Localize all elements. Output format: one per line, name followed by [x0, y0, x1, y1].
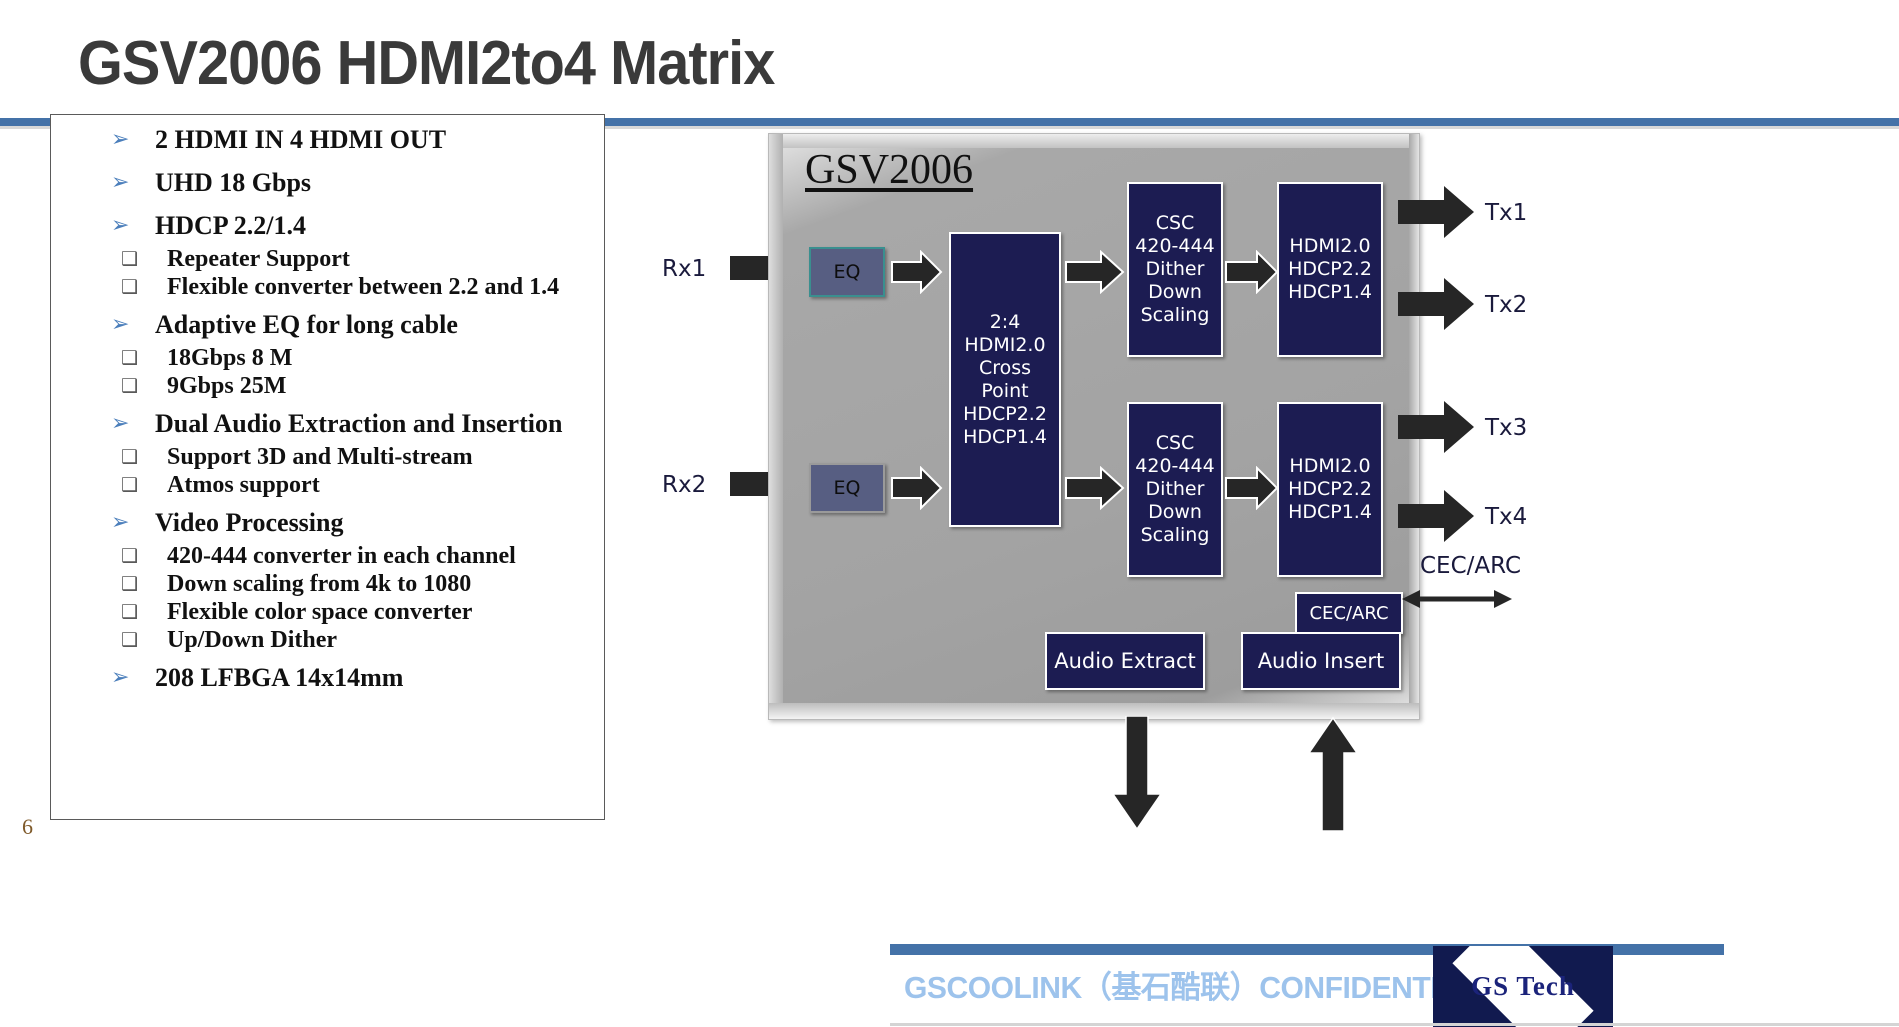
arrow-bullet-icon: ➢	[109, 407, 155, 441]
feature-label: HDCP 2.2/1.4	[155, 209, 306, 243]
csc-bottom-label: CSC 420-444 Dither Down Scaling	[1135, 432, 1214, 547]
cec-arc-block: CEC/ARC	[1295, 592, 1403, 634]
arrow-bullet-icon: ➢	[109, 166, 155, 200]
hdmi-top-label: HDMI2.0 HDCP2.2 HDCP1.4	[1288, 235, 1372, 304]
chip-label: GSV2006	[805, 146, 973, 194]
crosspoint-label: 2:4 HDMI2.0 Cross Point HDCP2.2 HDCP1.4	[963, 311, 1047, 449]
square-bullet-icon: ❑	[109, 273, 167, 301]
label-cec-arc-external: CEC/ARC	[1420, 553, 1521, 579]
eq-top-block: EQ	[809, 247, 885, 297]
arrow-bullet-icon: ➢	[109, 661, 155, 695]
arrow-audio-extract-out	[1112, 716, 1162, 831]
logo-text: GS Tech	[1433, 946, 1613, 1027]
hdmi-bottom-label: HDMI2.0 HDCP2.2 HDCP1.4	[1288, 455, 1372, 524]
feature-label: Up/Down Dither	[167, 626, 337, 654]
chip-package: GSV2006 EQ EQ 2:4 HDMI2.0 Cross Point HD…	[768, 133, 1420, 720]
csc-top-block: CSC 420-444 Dither Down Scaling	[1127, 182, 1223, 357]
feature-label: Adaptive EQ for long cable	[155, 308, 458, 342]
arrow-eq-top-to-crosspoint	[891, 250, 943, 294]
arrow-tx1-out	[1398, 186, 1474, 238]
feature-label: 9Gbps 25M	[167, 372, 286, 400]
audio-insert-block: Audio Insert	[1241, 632, 1401, 690]
square-bullet-icon: ❑	[109, 372, 167, 400]
label-tx4: Tx4	[1485, 504, 1527, 530]
audio-extract-block: Audio Extract	[1045, 632, 1205, 690]
feature-label: 18Gbps 8 M	[167, 344, 292, 372]
feature-label: Flexible converter between 2.2 and 1.4	[167, 273, 559, 301]
csc-bottom-block: CSC 420-444 Dither Down Scaling	[1127, 402, 1223, 577]
page-title: GSV2006 HDMI2to4 Matrix	[78, 28, 774, 99]
feature-label: Dual Audio Extraction and Insertion	[155, 407, 562, 441]
label-tx2: Tx2	[1485, 292, 1527, 318]
feature-list-panel: ➢2 HDMI IN 4 HDMI OUT➢UHD 18 Gbps➢HDCP 2…	[50, 114, 605, 820]
footer: GSCOOLINK（基石酷联）CONFIDENTIAL GS Tech	[890, 944, 1899, 1027]
block-diagram: Rx1 Rx2 GSV2006 EQ EQ	[640, 128, 1899, 918]
label-tx3: Tx3	[1485, 415, 1527, 441]
arrow-bullet-icon: ➢	[109, 506, 155, 540]
csc-top-label: CSC 420-444 Dither Down Scaling	[1135, 212, 1214, 327]
chip-bevel-left	[769, 134, 783, 719]
square-bullet-icon: ❑	[109, 245, 167, 273]
arrow-eq-bottom-to-crosspoint	[891, 466, 943, 510]
arrow-bullet-icon: ➢	[109, 209, 155, 243]
arrow-bullet-icon: ➢	[109, 123, 155, 157]
arrow-cec-arc-bidirectional	[1402, 585, 1512, 613]
cec-arc-label: CEC/ARC	[1309, 602, 1388, 625]
arrow-tx3-out	[1398, 401, 1474, 453]
square-bullet-icon: ❑	[109, 598, 167, 626]
audio-insert-label: Audio Insert	[1258, 650, 1385, 673]
label-tx1: Tx1	[1485, 200, 1527, 226]
page-number: 6	[22, 814, 33, 840]
square-bullet-icon: ❑	[109, 471, 167, 499]
arrow-audio-insert-in	[1308, 716, 1358, 831]
square-bullet-icon: ❑	[109, 626, 167, 654]
audio-extract-label: Audio Extract	[1054, 650, 1196, 673]
arrow-csc-bottom-to-hdmi-bottom	[1225, 466, 1279, 510]
crosspoint-block: 2:4 HDMI2.0 Cross Point HDCP2.2 HDCP1.4	[949, 232, 1061, 527]
arrow-csc-top-to-hdmi-top	[1225, 250, 1279, 294]
square-bullet-icon: ❑	[109, 443, 167, 471]
square-bullet-icon: ❑	[109, 570, 167, 598]
feature-label: UHD 18 Gbps	[155, 166, 311, 200]
feature-label: Down scaling from 4k to 1080	[167, 570, 471, 598]
hdmi-top-block: HDMI2.0 HDCP2.2 HDCP1.4	[1277, 182, 1383, 357]
square-bullet-icon: ❑	[109, 542, 167, 570]
footer-bottom-divider	[890, 1023, 1899, 1026]
feature-label: 208 LFBGA 14x14mm	[155, 661, 403, 695]
label-rx1: Rx1	[662, 256, 706, 282]
eq-bottom-block: EQ	[809, 463, 885, 513]
slide-root: GSV2006 HDMI2to4 Matrix 6 ➢2 HDMI IN 4 H…	[0, 0, 1899, 1027]
arrow-crosspoint-to-csc-bottom	[1065, 466, 1125, 510]
confidential-notice: GSCOOLINK（基石酷联）CONFIDENTIAL	[904, 962, 1477, 1007]
arrow-crosspoint-to-csc-top	[1065, 250, 1125, 294]
hdmi-bottom-block: HDMI2.0 HDCP2.2 HDCP1.4	[1277, 402, 1383, 577]
feature-label: Flexible color space converter	[167, 598, 472, 626]
feature-label: 2 HDMI IN 4 HDMI OUT	[155, 123, 446, 157]
arrow-tx4-out	[1398, 490, 1474, 542]
arrow-tx2-out	[1398, 278, 1474, 330]
feature-label: Atmos support	[167, 471, 320, 499]
feature-label: Video Processing	[155, 506, 344, 540]
arrow-bullet-icon: ➢	[109, 308, 155, 342]
square-bullet-icon: ❑	[109, 344, 167, 372]
feature-label: Support 3D and Multi-stream	[167, 443, 473, 471]
label-rx2: Rx2	[662, 472, 706, 498]
feature-label: Repeater Support	[167, 245, 350, 273]
feature-label: 420-444 converter in each channel	[167, 542, 516, 570]
gs-tech-logo: GS Tech	[1433, 946, 1613, 1027]
